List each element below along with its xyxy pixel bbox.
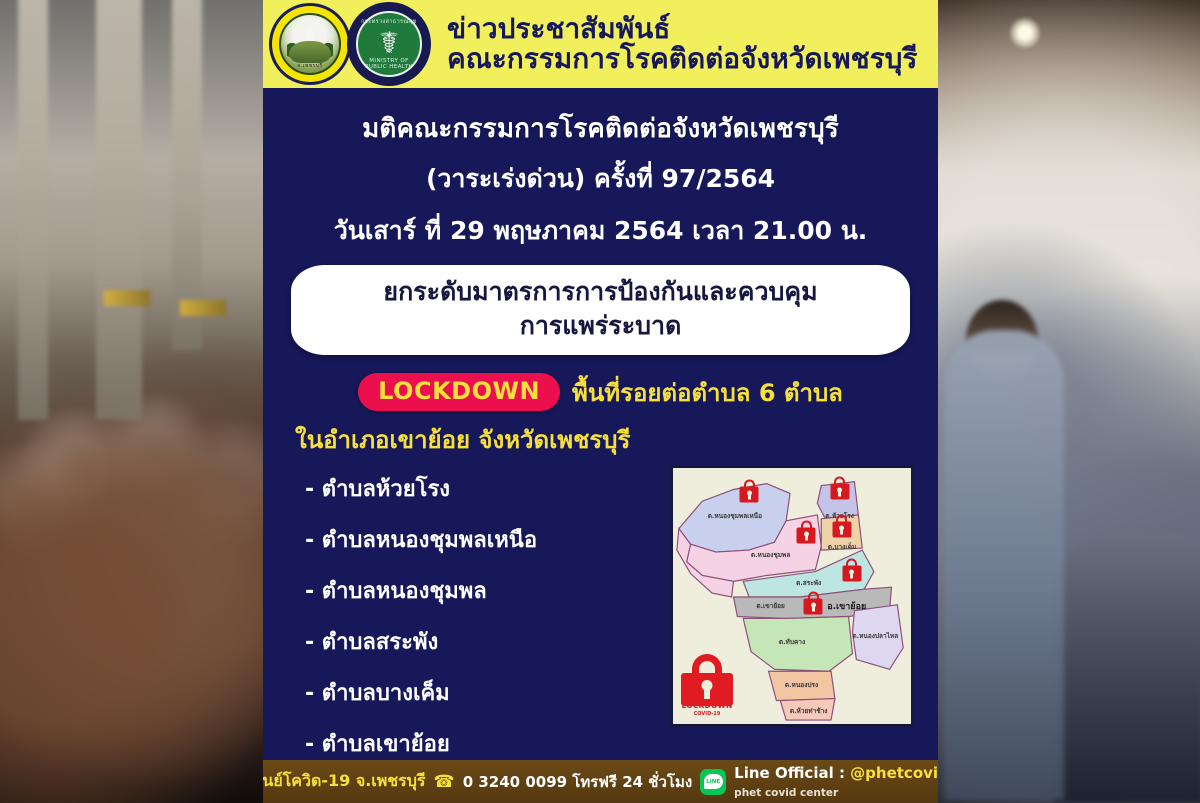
line-sub-label: phet covid center: [734, 787, 838, 799]
list-and-map-row: - ตำบลห้วยโรง - ตำบลหนองชุมพลเหนือ - ตำบ…: [273, 465, 928, 777]
list-item: - ตำบลสระพัง: [305, 624, 660, 659]
poster-header: จ.เพชรบุรี กระทรวงสาธารณสุข ☤ MINISTRY O…: [263, 0, 938, 88]
list-item: - ตำบลเขาย้อย: [305, 726, 660, 761]
contact-footer: ศูนย์โควิด-19 จ.เพชรบุรี ☎ 0 3240 0099 โ…: [263, 760, 938, 803]
header-line-2: คณะกรรมการโรคติดต่อจังหวัดเพชรบุรี: [447, 44, 917, 74]
hotline-label: ศูนย์โควิด-19 จ.เพชรบุรี: [263, 769, 426, 794]
line-contact-block: Line Official : @phetcovid phet covid ce…: [734, 764, 938, 799]
tambon-list: - ตำบลห้วยโรง - ตำบลหนองชุมพลเหนือ - ตำบ…: [287, 465, 660, 777]
poster-body: มติคณะกรรมการโรคติดต่อจังหวัดเพชรบุรี (ว…: [263, 108, 938, 803]
list-item: - ตำบลหนองชุมพลเหนือ: [305, 522, 660, 557]
hotline-number: 0 3240 0099 โทรฟรี 24 ชั่วโมง: [463, 770, 692, 794]
map-label-nong-prong: ต.หนองปรง: [785, 680, 818, 690]
lock-pin-icon: [797, 520, 816, 543]
lockdown-area-text: ในอำเภอเขาย้อย จังหวัดเพชรบุรี: [273, 420, 928, 459]
map-label-huai-tha-chang: ต.ห้วยท่าช้าง: [790, 706, 828, 716]
lock-pin-icon: [740, 479, 759, 502]
lock-pin-icon: [842, 558, 861, 581]
ministry-ring-bottom-text: MINISTRY OF PUBLIC HEALTH: [358, 58, 420, 70]
measure-banner: ยกระดับมาตรการการป้องกันและควบคุม การแพร…: [291, 265, 910, 355]
ministry-of-public-health-seal-icon: กระทรวงสาธารณสุข ☤ MINISTRY OF PUBLIC HE…: [347, 2, 431, 86]
map-label-nong-pla-lai: ต.หนองปลาไหล: [852, 631, 898, 641]
lock-pin-icon: [832, 515, 851, 538]
map-label-bang-khem: ต.บางเค็ม: [828, 542, 857, 552]
map-label-district: อ.เขาย้อย: [827, 599, 866, 613]
khao-yoi-district-map: ต.หนองชุมพลเหนือ ต.หนองชุมพล ต.ห้วยโรง ต…: [670, 465, 914, 727]
lock-pin-icon: [830, 476, 849, 499]
list-item: - ตำบลห้วยโรง: [305, 471, 660, 506]
lockdown-headline-row: LOCKDOWN พื้นที่รอยต่อตำบล 6 ตำบล: [273, 373, 928, 412]
measure-banner-line-2: การแพร่ระบาด: [313, 309, 888, 343]
caduceus-icon: ☤: [379, 29, 399, 59]
legend-subtitle: COVID-19: [681, 711, 733, 717]
announcement-panel: จ.เพชรบุรี กระทรวงสาธารณสุข ☤ MINISTRY O…: [263, 0, 938, 803]
lock-pin-icon: [804, 592, 823, 615]
map-label-nong-chum-phon: ต.หนองชุมพล: [751, 550, 790, 560]
background-photo-left-crowd: [0, 0, 266, 803]
poster-stage: จ.เพชรบุรี กระทรวงสาธารณสุข ☤ MINISTRY O…: [0, 0, 1200, 803]
meeting-date: วันเสาร์ ที่ 29 พฤษภาคม 2564 เวลา 21.00 …: [273, 211, 928, 251]
phone-icon: ☎: [434, 772, 455, 792]
header-line-1: ข่าวประชาสัมพันธ์: [447, 14, 917, 44]
line-app-icon[interactable]: LINE: [700, 769, 726, 795]
legend-title: LOCKDOWN: [681, 701, 733, 710]
map-label-thap-khang: ต.ทับคาง: [779, 637, 805, 647]
meeting-title: มติคณะกรรมการโรคติดต่อจังหวัดเพชรบุรี: [273, 108, 928, 149]
line-official-label: Line Official : @phetcovid: [734, 764, 938, 782]
map-label-sa-phang: ต.สระพัง: [796, 578, 821, 588]
background-photo-right-medical-staff: [936, 0, 1200, 803]
lockdown-badge: LOCKDOWN: [358, 373, 560, 411]
map-label-khao-yoi-tambon: ต.เขาย้อย: [756, 601, 785, 611]
map-label-nong-chum-phon-nuea: ต.หนองชุมพลเหนือ: [708, 511, 762, 521]
list-item: - ตำบลบางเค็ม: [305, 675, 660, 710]
header-title-block: ข่าวประชาสัมพันธ์ คณะกรรมการโรคติดต่อจัง…: [447, 14, 917, 74]
line-handle[interactable]: @phetcovid: [850, 764, 938, 782]
line-badge-text: LINE: [704, 774, 723, 789]
lockdown-legend-icon: LOCKDOWN COVID-19: [681, 654, 733, 714]
measure-banner-line-1: ยกระดับมาตรการการป้องกันและควบคุม: [313, 275, 888, 309]
lockdown-scope-text: พื้นที่รอยต่อตำบล 6 ตำบล: [572, 373, 843, 412]
province-seal-wrap: จ.เพชรบุรี: [269, 3, 351, 85]
list-item: - ตำบลหนองชุมพล: [305, 573, 660, 608]
phetchaburi-provincial-seal-icon: จ.เพชรบุรี: [269, 3, 351, 85]
meeting-subtitle: (วาระเร่งด่วน) ครั้งที่ 97/2564: [273, 159, 928, 199]
province-seal-caption: จ.เพชรบุรี: [281, 62, 339, 70]
ministry-ring-top-text: กระทรวงสาธารณสุข: [358, 18, 420, 26]
